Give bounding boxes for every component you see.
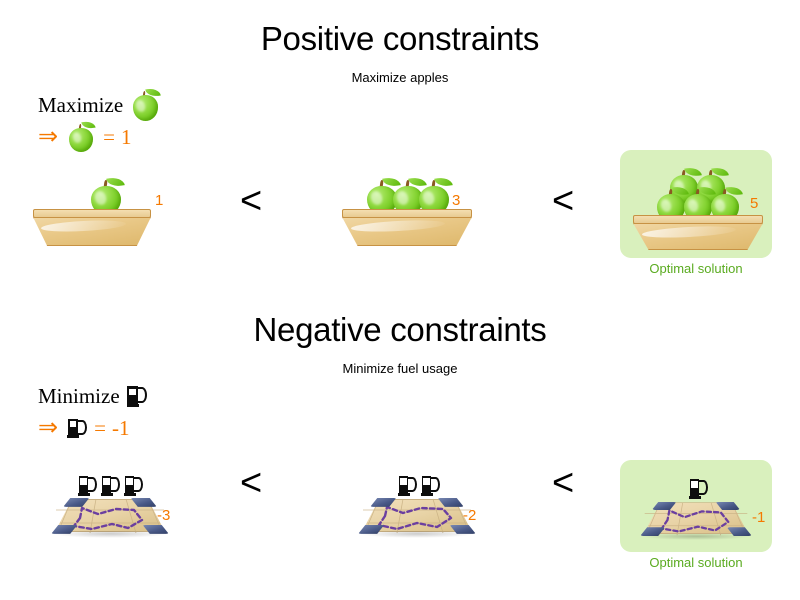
positive-optimal-label: Optimal solution [620,262,772,275]
negative-comparator-1: < [240,464,262,502]
apple-icon [67,121,95,153]
negative-weight-value: -1 [112,416,130,441]
positive-objective-label: Maximize [38,93,123,118]
route-map-icon [50,496,170,538]
positive-legend: Maximize ⇒ = 1 [38,92,160,152]
fruit-bowl-icon [342,209,472,246]
fuel-pump-icon [67,418,86,439]
implies-arrow-icon: ⇒ [38,125,58,149]
negative-score-3: -1 [752,510,765,525]
positive-score-1: 1 [155,193,163,208]
apple-icon [130,88,160,122]
negative-comparator-2: < [552,464,574,502]
fuel-pump-icon [421,475,439,496]
negative-weight-line: ⇒ = -1 [38,413,147,443]
fruit-bowl-icon [33,209,151,246]
fuel-pump-icon [398,475,416,496]
fuel-pump-icon [124,475,142,496]
negative-optimal-label: Optimal solution [620,556,772,569]
positive-weight-value: 1 [121,125,132,150]
negative-score-1: -3 [157,508,170,523]
positive-objective-line: Maximize [38,92,160,118]
implies-arrow-icon: ⇒ [38,416,58,440]
negative-objective-line: Minimize [38,383,147,409]
fuel-pump-icon [689,478,707,499]
positive-section-title: Positive constraints [0,22,800,55]
negative-score-2: -2 [463,508,476,523]
negative-section-title: Negative constraints [0,313,800,346]
fruit-bowl-icon [633,215,763,250]
negative-section-subtitle: Minimize fuel usage [0,362,800,375]
route-map-icon [357,496,477,538]
positive-equals-sign: = [103,125,115,150]
negative-objective-label: Minimize [38,384,120,409]
negative-legend: Minimize ⇒ = -1 [38,383,147,443]
positive-comparator-1: < [240,182,262,220]
positive-score-2: 3 [452,193,460,208]
negative-equals-sign: = [94,416,106,441]
route-map-icon [639,500,753,540]
positive-score-3: 5 [750,196,758,211]
positive-section-subtitle: Maximize apples [0,71,800,84]
positive-weight-line: ⇒ = 1 [38,122,160,152]
fuel-pump-icon [78,475,96,496]
fuel-pump-icon [127,385,147,407]
fuel-pump-icon [101,475,119,496]
positive-comparator-2: < [552,182,574,220]
